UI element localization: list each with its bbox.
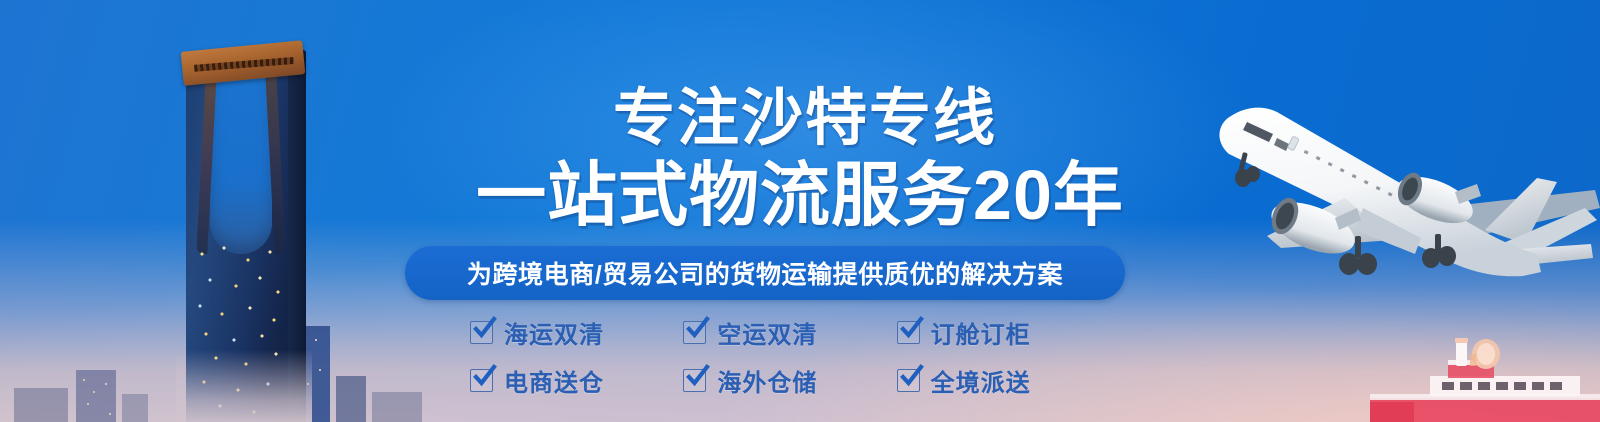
headline-line-1: 专注沙特专线	[0, 84, 1600, 154]
feature-label: 电商送仓	[504, 363, 604, 398]
feature-item: 空运双清	[683, 312, 896, 352]
feature-list: 海运双清 空运双清 订舱订柜	[470, 312, 1110, 400]
checkbox-checked-icon	[470, 369, 493, 392]
feature-label: 海外仓储	[717, 363, 817, 398]
subtitle-text: 为跨境电商/贸易公司的货物运输提供质优的解决方案	[467, 255, 1063, 291]
checkbox-checked-icon	[897, 369, 920, 392]
feature-item: 海运双清	[470, 312, 683, 352]
checkbox-checked-icon	[683, 369, 706, 392]
headline-line-2: 一站式物流服务20年	[0, 156, 1600, 234]
feature-label: 海运双清	[504, 315, 604, 350]
feature-item: 订舱订柜	[897, 312, 1110, 352]
feature-item: 海外仓储	[683, 360, 896, 400]
feature-label: 全境派送	[931, 363, 1031, 398]
feature-item: 全境派送	[897, 360, 1110, 400]
checkbox-checked-icon	[897, 321, 920, 344]
checkbox-checked-icon	[683, 321, 706, 344]
banner-content: 专注沙特专线 一站式物流服务20年 为跨境电商/贸易公司的货物运输提供质优的解决…	[0, 0, 1600, 422]
promo-banner: 专注沙特专线 一站式物流服务20年 为跨境电商/贸易公司的货物运输提供质优的解决…	[0, 0, 1600, 422]
subtitle-pill: 为跨境电商/贸易公司的货物运输提供质优的解决方案	[405, 246, 1125, 300]
feature-item: 电商送仓	[470, 360, 683, 400]
feature-label: 订舱订柜	[931, 315, 1031, 350]
checkbox-checked-icon	[470, 321, 493, 344]
feature-label: 空运双清	[717, 315, 817, 350]
